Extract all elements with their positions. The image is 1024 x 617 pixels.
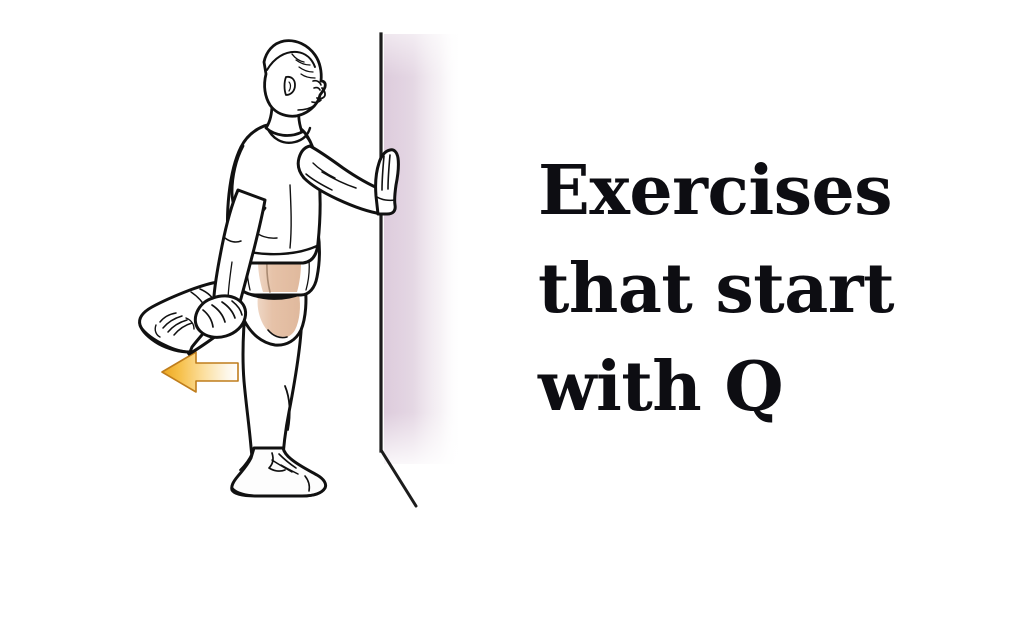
figure (140, 41, 399, 496)
page-root: Exercises that start with Q (0, 0, 1024, 617)
stretch-arrow (162, 352, 238, 392)
wall-hand (376, 150, 399, 214)
headline-line-2: that start (538, 241, 1008, 339)
headline-line-1: Exercises (538, 143, 1008, 241)
head (264, 41, 325, 117)
headline-line-3: with Q (538, 339, 1008, 437)
page-title: Exercises that start with Q (538, 143, 1008, 437)
gripping-hand (195, 296, 245, 338)
standing-shoe (232, 448, 326, 496)
wall (381, 34, 462, 506)
standing-quadriceps-stretch-illustration (0, 0, 500, 617)
